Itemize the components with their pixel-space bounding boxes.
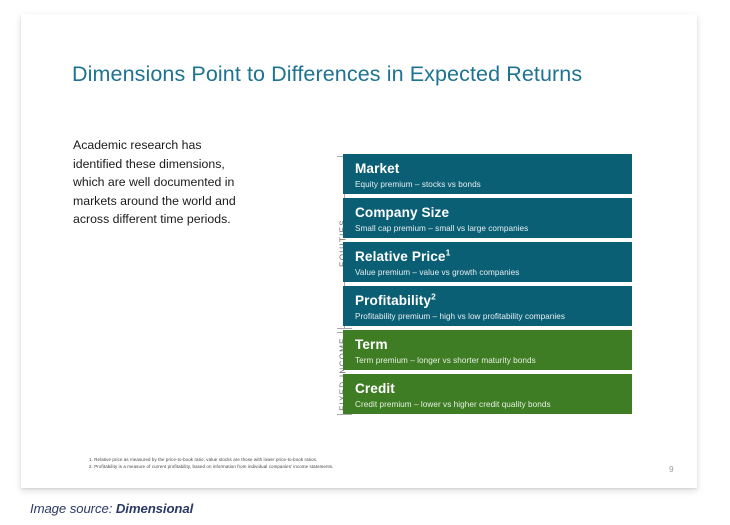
dimension-bar-title: Market — [355, 161, 632, 177]
dimension-bar[interactable]: CreditCredit premium – lower vs higher c… — [343, 374, 632, 414]
footnotes: 1. Relative price as measured by the pri… — [89, 457, 509, 470]
dimension-bar-subtitle: Credit premium – lower vs higher credit … — [355, 399, 632, 411]
page-number: 9 — [669, 464, 674, 474]
image-source-caption: Image source: Dimensional — [30, 501, 193, 516]
dimension-bar-title: Profitability2 — [355, 293, 632, 309]
dimension-bar-title: Credit — [355, 381, 632, 397]
dimension-bar-title: Relative Price1 — [355, 249, 632, 265]
dimension-bar-subtitle: Term premium – longer vs shorter maturit… — [355, 355, 632, 367]
dimension-bar-subtitle: Profitability premium – high vs low prof… — [355, 311, 632, 323]
dimension-bar[interactable]: Company SizeSmall cap premium – small vs… — [343, 198, 632, 238]
dimension-bar-footnote-marker: 1 — [446, 247, 451, 257]
dimension-bar-subtitle: Small cap premium – small vs large compa… — [355, 223, 632, 235]
footnote-2: 2. Profitability is a measure of current… — [89, 464, 509, 471]
dimension-bar-subtitle: Equity premium – stocks vs bonds — [355, 179, 632, 191]
bracket-tick-bottom — [337, 414, 352, 415]
footnote-1: 1. Relative price as measured by the pri… — [89, 457, 509, 464]
page-title: Dimensions Point to Differences in Expec… — [72, 61, 582, 87]
dimension-bar[interactable]: MarketEquity premium – stocks vs bonds — [343, 154, 632, 194]
dimension-bar[interactable]: Profitability2Profitability premium – hi… — [343, 286, 632, 326]
dimension-bar[interactable]: TermTerm premium – longer vs shorter mat… — [343, 330, 632, 370]
dimension-bar[interactable]: Relative Price1Value premium – value vs … — [343, 242, 632, 282]
dimension-bar-footnote-marker: 2 — [431, 291, 436, 301]
dimension-bar-title: Term — [355, 337, 632, 353]
dimension-bar-title: Company Size — [355, 205, 632, 221]
dimensions-bar-list: MarketEquity premium – stocks vs bondsCo… — [343, 140, 633, 412]
caption-prefix: Image source: — [30, 501, 112, 516]
intro-paragraph: Academic research has identified these d… — [73, 136, 245, 229]
caption-source-name: Dimensional — [116, 501, 193, 516]
slide-card: Dimensions Point to Differences in Expec… — [21, 14, 697, 488]
dimension-bar-subtitle: Value premium – value vs growth companie… — [355, 267, 632, 279]
